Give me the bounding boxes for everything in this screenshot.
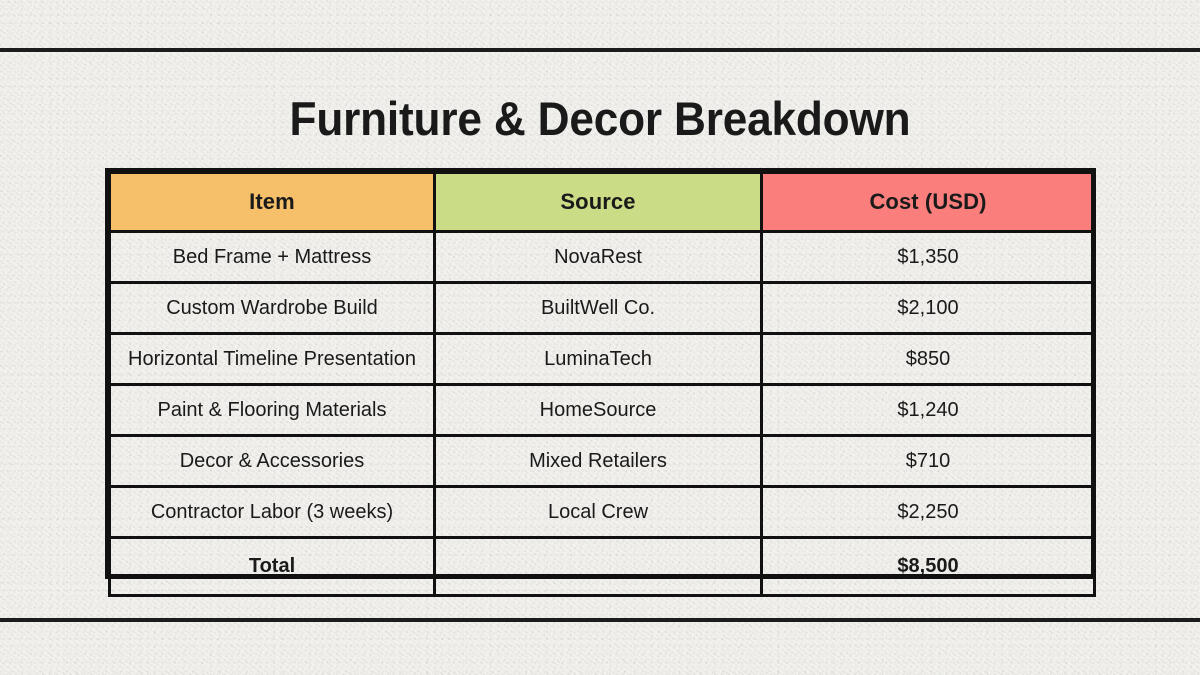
page-title: Furniture & Decor Breakdown bbox=[36, 91, 1164, 147]
cell-source: NovaRest bbox=[435, 232, 762, 283]
cell-item: Bed Frame + Mattress bbox=[110, 232, 435, 283]
cell-cost: $1,240 bbox=[762, 385, 1095, 436]
table-row: Horizontal Timeline Presentation LuminaT… bbox=[110, 334, 1095, 385]
cell-item: Custom Wardrobe Build bbox=[110, 283, 435, 334]
cell-total-label: Total bbox=[110, 538, 435, 596]
cell-source: BuiltWell Co. bbox=[435, 283, 762, 334]
table-body: Bed Frame + Mattress NovaRest $1,350 Cus… bbox=[110, 232, 1095, 596]
table-row: Custom Wardrobe Build BuiltWell Co. $2,1… bbox=[110, 283, 1095, 334]
cell-total-source bbox=[435, 538, 762, 596]
table-total-row: Total $8,500 bbox=[110, 538, 1095, 596]
table-header: Item Source Cost (USD) bbox=[110, 173, 1095, 232]
furniture-decor-cost-table: Item Source Cost (USD) Bed Frame + Mattr… bbox=[108, 171, 1096, 597]
table-header-row: Item Source Cost (USD) bbox=[110, 173, 1095, 232]
cell-total-cost: $8,500 bbox=[762, 538, 1095, 596]
cell-cost: $710 bbox=[762, 436, 1095, 487]
table-row: Contractor Labor (3 weeks) Local Crew $2… bbox=[110, 487, 1095, 538]
column-header-cost[interactable]: Cost (USD) bbox=[762, 173, 1095, 232]
cell-item: Contractor Labor (3 weeks) bbox=[110, 487, 435, 538]
cell-item: Horizontal Timeline Presentation bbox=[110, 334, 435, 385]
cell-cost: $850 bbox=[762, 334, 1095, 385]
cell-source: HomeSource bbox=[435, 385, 762, 436]
top-divider-rule bbox=[0, 48, 1200, 52]
column-header-item[interactable]: Item bbox=[110, 173, 435, 232]
slide-canvas: Furniture & Decor Breakdown Item Source … bbox=[0, 0, 1200, 675]
cell-cost: $1,350 bbox=[762, 232, 1095, 283]
bottom-divider-rule bbox=[0, 618, 1200, 622]
cell-item: Decor & Accessories bbox=[110, 436, 435, 487]
table-row: Paint & Flooring Materials HomeSource $1… bbox=[110, 385, 1095, 436]
cell-source: Local Crew bbox=[435, 487, 762, 538]
cell-source: LuminaTech bbox=[435, 334, 762, 385]
column-header-source[interactable]: Source bbox=[435, 173, 762, 232]
table-row: Bed Frame + Mattress NovaRest $1,350 bbox=[110, 232, 1095, 283]
cell-item: Paint & Flooring Materials bbox=[110, 385, 435, 436]
cell-cost: $2,250 bbox=[762, 487, 1095, 538]
table-row: Decor & Accessories Mixed Retailers $710 bbox=[110, 436, 1095, 487]
cell-source: Mixed Retailers bbox=[435, 436, 762, 487]
cell-cost: $2,100 bbox=[762, 283, 1095, 334]
